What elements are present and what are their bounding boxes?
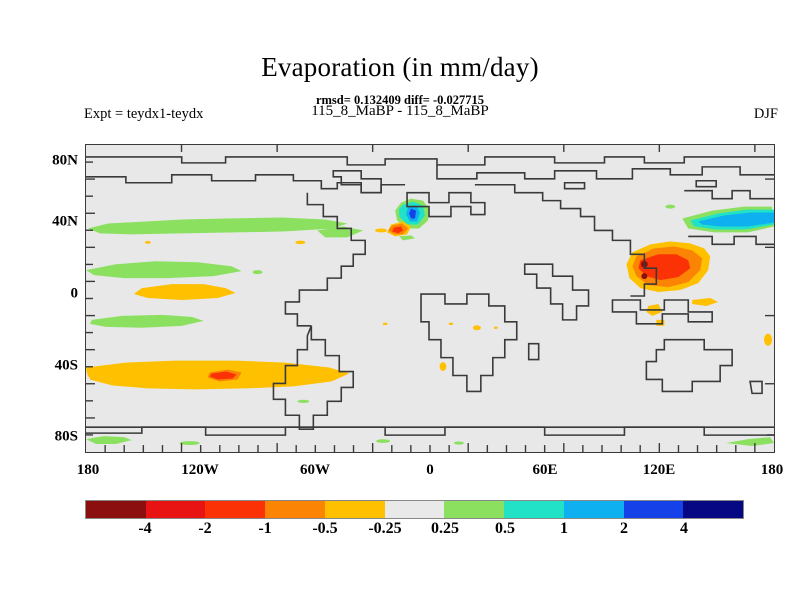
- colorbar-label--0.5: -0.5: [295, 520, 355, 538]
- x-axis-labels: 180 120W 60W 0 60E 120E 180: [0, 462, 800, 486]
- page-title: Evaporation (in mm/day): [0, 52, 800, 83]
- y-tick-label-40s: 40S: [32, 358, 78, 375]
- colorbar-label-1: 1: [534, 520, 594, 538]
- colorbar-label--2: -2: [175, 520, 235, 538]
- colorbar-swatch-6: [444, 501, 504, 518]
- colorbar-label-0.5: 0.5: [475, 520, 535, 538]
- x-tick-label-60w: 60W: [275, 462, 355, 479]
- colorbar-swatch-1: [146, 501, 206, 518]
- colorbar-swatch-5: [385, 501, 445, 518]
- colorbar-label-0.25: 0.25: [415, 520, 475, 538]
- x-tick-label-180e: 180: [732, 462, 800, 479]
- season-label: DJF: [754, 106, 778, 123]
- colorbar-label--0.25: -0.25: [355, 520, 415, 538]
- x-tick-label-60e: 60E: [505, 462, 585, 479]
- colorbar-swatch-10: [683, 501, 743, 518]
- map-plot-area[interactable]: [85, 144, 775, 453]
- y-tick-label-80n: 80N: [32, 153, 78, 170]
- colorbar-swatch-2: [205, 501, 265, 518]
- colorbar-swatch-9: [624, 501, 684, 518]
- colorbar[interactable]: [85, 500, 744, 519]
- colorbar-label-4: 4: [654, 520, 714, 538]
- x-tick-label-120e: 120E: [619, 462, 699, 479]
- y-tick-label-0: 0: [32, 286, 78, 303]
- x-tick-label-0: 0: [390, 462, 470, 479]
- colorbar-swatch-0: [86, 501, 146, 518]
- colorbar-label--4: -4: [115, 520, 175, 538]
- y-tick-label-40n: 40N: [32, 214, 78, 231]
- x-tick-label-180w: 180: [48, 462, 128, 479]
- x-tick-label-120w: 120W: [160, 462, 240, 479]
- y-axis-labels: 80N 40N 0 40S 80S: [20, 0, 78, 600]
- colorbar-swatch-3: [265, 501, 325, 518]
- colorbar-label-2: 2: [594, 520, 654, 538]
- colorbar-swatch-8: [564, 501, 624, 518]
- colorbar-labels: -4 -2 -1 -0.5 -0.25 0.25 0.5 1 2 4: [0, 520, 800, 544]
- axis-tick-overlay: [86, 145, 774, 452]
- colorbar-label--1: -1: [235, 520, 295, 538]
- experiment-label: Expt = teydx1-teydx: [84, 106, 203, 123]
- colorbar-swatch-7: [504, 501, 564, 518]
- y-tick-label-80s: 80S: [32, 429, 78, 446]
- colorbar-swatch-4: [325, 501, 385, 518]
